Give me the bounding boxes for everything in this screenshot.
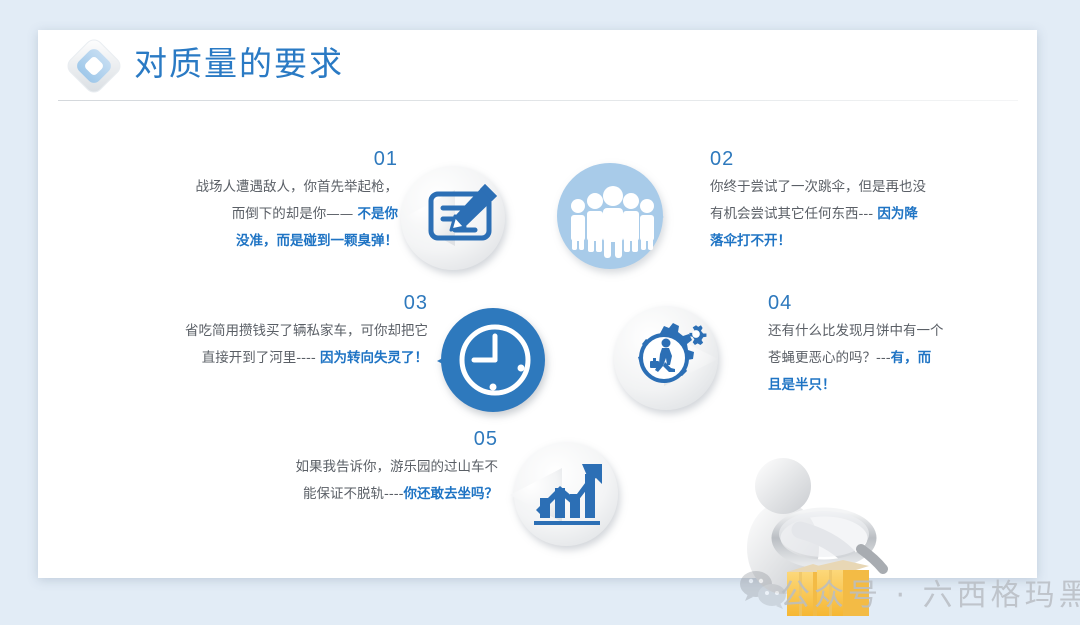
header-divider — [58, 100, 1018, 101]
block-02-body: 你终于尝试了一次跳伞，但是再也没 有机会尝试其它任何东西--- 因为降 落伞打不… — [710, 174, 960, 255]
block-04-text: 04 还有什么比发现月饼中有一个 苍蝇更恶心的吗？---有，而 且是半只！ — [768, 292, 1018, 399]
block-03-number: 03 — [98, 292, 428, 314]
block-03-text: 03 省吃简用攒钱买了辆私家车，可你却把它 直接开到了河里---- 因为转向失灵… — [98, 292, 428, 372]
content-block-05: 05 如果我告诉你，游乐园的过山车不 能保证不脱轨----你还敢去坐吗？ — [198, 428, 668, 553]
block-05-text: 05 如果我告诉你，游乐园的过山车不 能保证不脱轨----你还敢去坐吗？ — [198, 428, 498, 508]
watermark-text: 公众号 · 六西格玛黑带 — [780, 570, 1080, 614]
bubble-01[interactable] — [393, 158, 533, 278]
content-block-04: 04 还有什么比发现月饼中有一个 苍蝇更恶心的吗？---有，而 且是半只！ — [600, 292, 1020, 422]
bubble-03[interactable] — [423, 302, 563, 422]
diamond-icon — [64, 36, 124, 96]
block-01-number: 01 — [98, 148, 398, 170]
bubble-05[interactable] — [494, 436, 639, 558]
block-04-number: 04 — [768, 292, 1018, 314]
slide-stage: 对质量的要求 01 战场人遭遇敌人，你首先举起枪， 而倒下的却是你—— 不是你 … — [0, 0, 1080, 608]
slide-card: 对质量的要求 01 战场人遭遇敌人，你首先举起枪， 而倒下的却是你—— 不是你 … — [38, 30, 1037, 578]
content-block-01: 01 战场人遭遇敌人，你首先举起枪， 而倒下的却是你—— 不是你 没准，而是碰到… — [98, 148, 518, 268]
bubble-02[interactable] — [548, 156, 698, 280]
block-05-body: 如果我告诉你，游乐园的过山车不 能保证不脱轨----你还敢去坐吗？ — [198, 454, 498, 508]
block-03-body: 省吃简用攒钱买了辆私家车，可你却把它 直接开到了河里---- 因为转向失灵了！ — [98, 318, 428, 372]
block-01-text: 01 战场人遭遇敌人，你首先举起枪， 而倒下的却是你—— 不是你 没准，而是碰到… — [98, 148, 398, 255]
content-block-03: 03 省吃简用攒钱买了辆私家车，可你却把它 直接开到了河里---- 因为转向失灵… — [98, 292, 598, 412]
block-04-body: 还有什么比发现月饼中有一个 苍蝇更恶心的吗？---有，而 且是半只！ — [768, 318, 1018, 399]
page-title: 对质量的要求 — [134, 37, 344, 85]
content-block-02: 02 你终于尝试了一次跳伞，但是再也没 有机会尝试其它任何东西--- 因为降 落… — [538, 148, 958, 268]
bubble-04[interactable] — [608, 300, 753, 422]
block-01-body: 战场人遭遇敌人，你首先举起枪， 而倒下的却是你—— 不是你 没准，而是碰到一颗臭… — [98, 174, 398, 255]
block-02-number: 02 — [710, 148, 960, 170]
block-05-number: 05 — [198, 428, 498, 450]
slide-header: 对质量的要求 — [38, 30, 1037, 100]
block-02-text: 02 你终于尝试了一次跳伞，但是再也没 有机会尝试其它任何东西--- 因为降 落… — [710, 148, 960, 255]
